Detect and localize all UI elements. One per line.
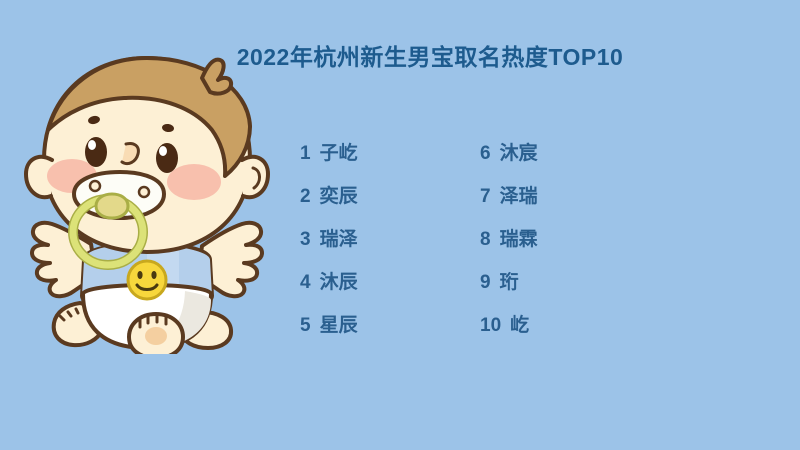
list-item-name: 子屹: [320, 143, 358, 164]
list-item-rank: 6: [480, 143, 491, 164]
list-item-rank: 8: [480, 229, 491, 250]
list-item-name: 奕辰: [320, 186, 358, 207]
list-item-name: 沐宸: [500, 143, 538, 164]
name-ranking-list: 1子屹 6沐宸 2奕辰 7泽瑞 3瑞泽 8瑞霖 4沐辰 9珩 5星辰 10屹: [300, 132, 630, 347]
list-item-name: 珩: [500, 272, 519, 293]
baby-illustration: [16, 48, 278, 354]
list-item-name: 瑞泽: [320, 229, 358, 250]
list-item-rank: 2: [300, 186, 311, 207]
list-item: 5星辰: [300, 316, 480, 335]
list-item-name: 星辰: [320, 315, 358, 336]
list-item-rank: 3: [300, 229, 311, 250]
list-item: 2奕辰: [300, 187, 480, 206]
list-item-rank: 7: [480, 186, 491, 207]
page-title-text: 2022年杭州新生男宝取名热度TOP10: [237, 38, 624, 72]
list-item-rank: 10: [480, 315, 501, 336]
list-item-rank: 5: [300, 315, 311, 336]
list-item-name: 屹: [510, 315, 529, 336]
poster-canvas: 2022年杭州新生男宝取名热度TOP10: [0, 0, 800, 450]
list-item-name: 沐辰: [320, 272, 358, 293]
list-item-rank: 1: [300, 143, 311, 164]
list-item-rank: 4: [300, 272, 311, 293]
list-item: 1子屹: [300, 144, 480, 163]
list-item-name: 泽瑞: [500, 186, 538, 207]
list-item-rank: 9: [480, 272, 491, 293]
list-item: 7泽瑞: [480, 187, 630, 206]
list-item: 4沐辰: [300, 273, 480, 292]
list-item: 9珩: [480, 273, 630, 292]
list-item: 8瑞霖: [480, 230, 630, 249]
list-item: 10屹: [480, 316, 630, 335]
list-item: 6沐宸: [480, 144, 630, 163]
list-item-name: 瑞霖: [500, 229, 538, 250]
list-item: 3瑞泽: [300, 230, 480, 249]
